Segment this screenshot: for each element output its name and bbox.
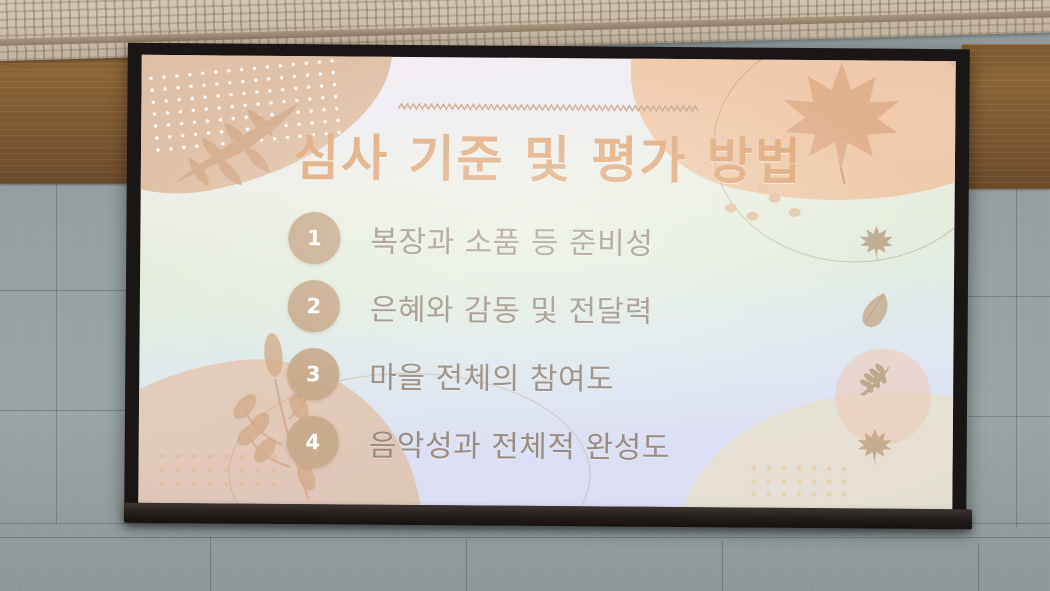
item-label: 음악성과 전체적 완성도	[369, 421, 670, 467]
slide-title: 심사 기준 및 평가 방법	[141, 117, 956, 195]
projection-screen-frame: 심사 기준 및 평가 방법 1 복장과 소품 등 준비성 2 은혜와 감동 및 …	[124, 43, 970, 526]
list-item: 4 음악성과 전체적 완성도	[138, 407, 953, 481]
wall-seam	[466, 539, 467, 591]
wall-seam	[978, 543, 979, 591]
item-label: 은혜와 감동 및 전달력	[370, 285, 653, 331]
wall-seam	[0, 537, 1050, 538]
projected-slide: 심사 기준 및 평가 방법 1 복장과 소품 등 준비성 2 은혜와 감동 및 …	[138, 55, 955, 509]
wall-seam	[0, 290, 128, 291]
wall-seam	[722, 541, 723, 591]
fern-leaf-icon	[855, 358, 895, 398]
item-number-badge: 3	[287, 348, 339, 400]
maple-leaf-icon	[856, 222, 896, 262]
wall-seam	[56, 172, 57, 523]
wall-seam	[968, 296, 1050, 297]
single-leaf-icon	[856, 290, 896, 330]
item-number-badge: 1	[288, 212, 340, 264]
item-label: 마을 전체의 참여도	[369, 353, 614, 399]
wall-seam	[210, 537, 211, 591]
list-item: 3 마을 전체의 참여도	[139, 339, 954, 413]
wall-seam	[0, 410, 128, 411]
room-scene: 심사 기준 및 평가 방법 1 복장과 소품 등 준비성 2 은혜와 감동 및 …	[0, 0, 1050, 591]
maple-leaf-icon	[855, 426, 895, 466]
criteria-list: 1 복장과 소품 등 준비성 2 은혜와 감동 및 전달력	[138, 203, 954, 481]
list-item: 2 은혜와 감동 및 전달력	[140, 271, 955, 345]
item-number-badge: 4	[287, 416, 339, 468]
wall-seam	[968, 416, 1050, 417]
item-number-badge: 2	[288, 280, 340, 332]
item-label: 복장과 소품 등 준비성	[370, 217, 653, 263]
zigzag-divider	[398, 101, 698, 115]
list-item: 1 복장과 소품 등 준비성	[140, 203, 955, 277]
wood-band-right	[962, 44, 1050, 189]
wall-seam	[1016, 176, 1017, 527]
